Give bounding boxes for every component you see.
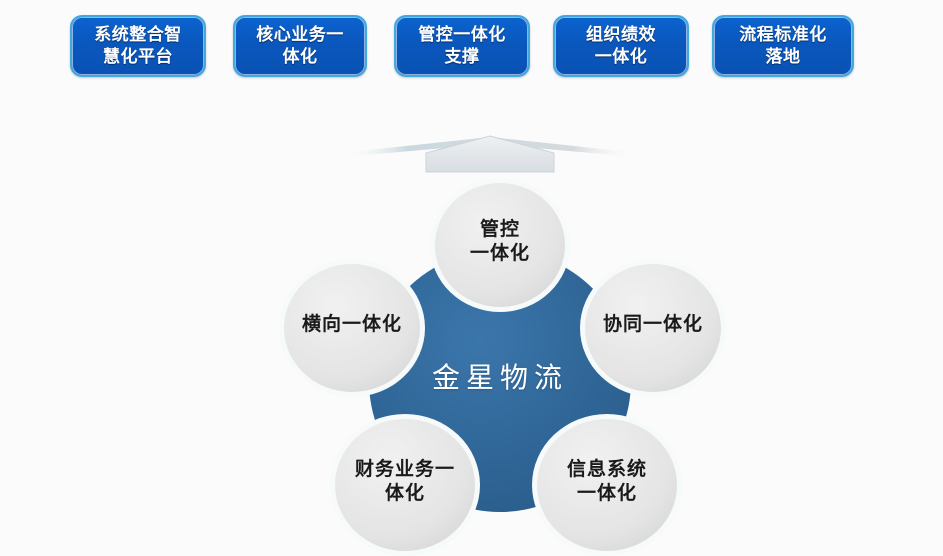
node-ellipse-left[interactable] [284, 264, 420, 392]
top-box-system-integration[interactable]: 系统整合智 慧化平台 [70, 15, 206, 77]
top-box-label: 组织绩效 一体化 [586, 24, 656, 69]
top-box-row: 系统整合智 慧化平台 核心业务一 体化 管控一体化 支撑 组织绩效 一体化 流程… [0, 0, 943, 100]
top-box-label: 管控一体化 支撑 [418, 24, 506, 69]
node-ellipse-bottom_left[interactable] [335, 419, 475, 551]
node-ellipse-bottom_right[interactable] [537, 419, 677, 551]
integration-wheel: 金星物流 管控 一体化 横向一体化 协同一体化 财务业务一 体化 信息系统 一体… [240, 175, 760, 556]
node-ellipse-top[interactable] [435, 183, 565, 307]
top-box-management-control[interactable]: 管控一体化 支撑 [394, 15, 530, 77]
up-arrow-icon [340, 128, 640, 180]
wheel-svg [240, 175, 760, 556]
node-ellipse-right[interactable] [585, 264, 721, 392]
top-box-label: 核心业务一 体化 [256, 24, 344, 69]
top-box-label: 系统整合智 慧化平台 [94, 24, 182, 69]
top-box-core-business[interactable]: 核心业务一 体化 [233, 15, 367, 77]
top-box-label: 流程标准化 落地 [739, 24, 827, 69]
top-box-process-standardization[interactable]: 流程标准化 落地 [712, 15, 854, 77]
diagram-canvas: 系统整合智 慧化平台 核心业务一 体化 管控一体化 支撑 组织绩效 一体化 流程… [0, 0, 943, 556]
top-box-organizational-performance[interactable]: 组织绩效 一体化 [553, 15, 689, 77]
